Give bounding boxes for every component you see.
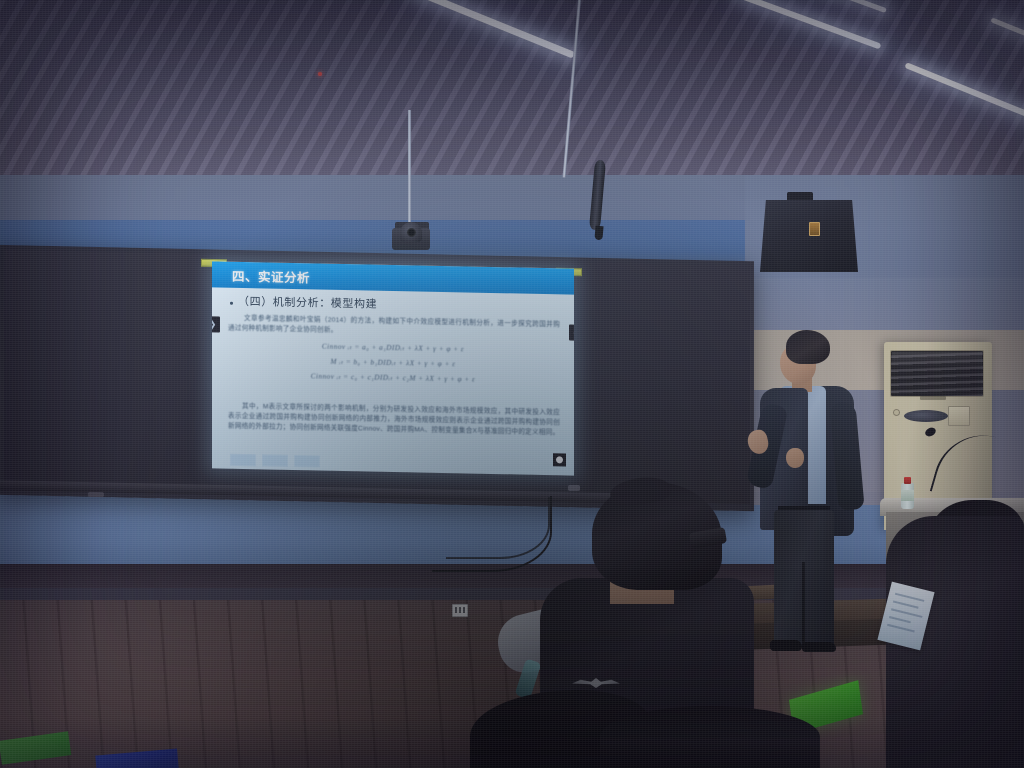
- presenter-hand-right: [786, 448, 804, 468]
- water-bottle-cap: [904, 477, 911, 484]
- slide-thumbnail-1[interactable]: [230, 454, 256, 467]
- camera-mount-pole: [408, 110, 411, 230]
- ceiling-light-5: [990, 17, 1024, 55]
- record-dot-icon: [556, 456, 563, 463]
- ceiling-indicator-led: [318, 72, 322, 76]
- slide-thumbnail-3[interactable]: [294, 455, 320, 468]
- paper-text-line: [891, 608, 923, 618]
- slide-formula-3: Cinnov ᵢₜ = c₀ + c₁DIDᵢₜ + c₂M + λX + γ …: [212, 369, 574, 385]
- board-sensor-left: [88, 492, 104, 497]
- ceiling: [0, 0, 1024, 185]
- presenter-hair: [786, 330, 830, 364]
- slide-thumbnail-2[interactable]: [262, 454, 288, 467]
- paper-text-line: [887, 624, 915, 633]
- paper-text-line: [893, 600, 919, 608]
- presenter-shoe-left: [770, 640, 802, 651]
- audience-bottom-head: [600, 706, 820, 768]
- water-bottle-label: [901, 490, 914, 501]
- slide-title: 四、实证分析: [212, 265, 310, 286]
- air-conditioner-button[interactable]: [893, 409, 900, 416]
- slide-paragraph-1: 文章参考温忠麟和叶宝娟（2014）的方法，构建如下中介效应模型进行机制分析，进一…: [228, 314, 560, 341]
- slide-prev-chevron-right-icon[interactable]: ❯: [212, 316, 220, 332]
- outlet-socket-icon: [455, 607, 465, 613]
- projected-slide: 四、实证分析 （四）机制分析：模型构建 文章参考温忠麟和叶宝娟（2014）的方法…: [212, 261, 574, 475]
- slide-formula-1: Cinnov ᵢₜ = a₀ + a₁DIDᵢₜ + λX + γ + φ + …: [212, 339, 574, 355]
- ceiling-light-3: [904, 62, 1024, 124]
- air-conditioner-display: [904, 410, 948, 422]
- paper-text-line: [889, 616, 911, 623]
- slide-paragraph-2: 其中，M表示文章所探讨的两个影响机制，分别为研发投入效应和海外市场规模效应，其中…: [228, 402, 560, 439]
- slide-record-button[interactable]: [553, 453, 566, 466]
- lecture-hall-photo: 四、实证分析 （四）机制分析：模型构建 文章参考温忠麟和叶宝娟（2014）的方法…: [0, 0, 1024, 768]
- speaker-badge-icon: [809, 222, 820, 236]
- slide-bullet-label: （四）机制分析：模型构建: [238, 293, 377, 312]
- presenter: [762, 330, 892, 680]
- ceiling-light-2: [738, 0, 881, 49]
- slide-formula-2: M ᵢₜ = b₀ + b₁DIDᵢₜ + λX + γ + φ + ε: [212, 354, 574, 370]
- wall-speaker: [760, 200, 858, 272]
- slide-next-chevron-left-icon[interactable]: ❮: [569, 325, 574, 341]
- air-conditioner-side-panel: [948, 406, 970, 426]
- grille-highlight: [892, 352, 982, 368]
- bullet-dot-icon: [230, 302, 233, 305]
- paper-text-line: [895, 593, 925, 602]
- ceiling-light-1: [415, 0, 575, 59]
- presenter-leg-seam: [802, 562, 805, 648]
- camera-lens-icon: [407, 228, 416, 237]
- presenter-shoe-right: [802, 642, 836, 652]
- air-conditioner-brand-logo: [920, 396, 946, 400]
- slide-bullet: （四）机制分析：模型构建: [230, 293, 377, 312]
